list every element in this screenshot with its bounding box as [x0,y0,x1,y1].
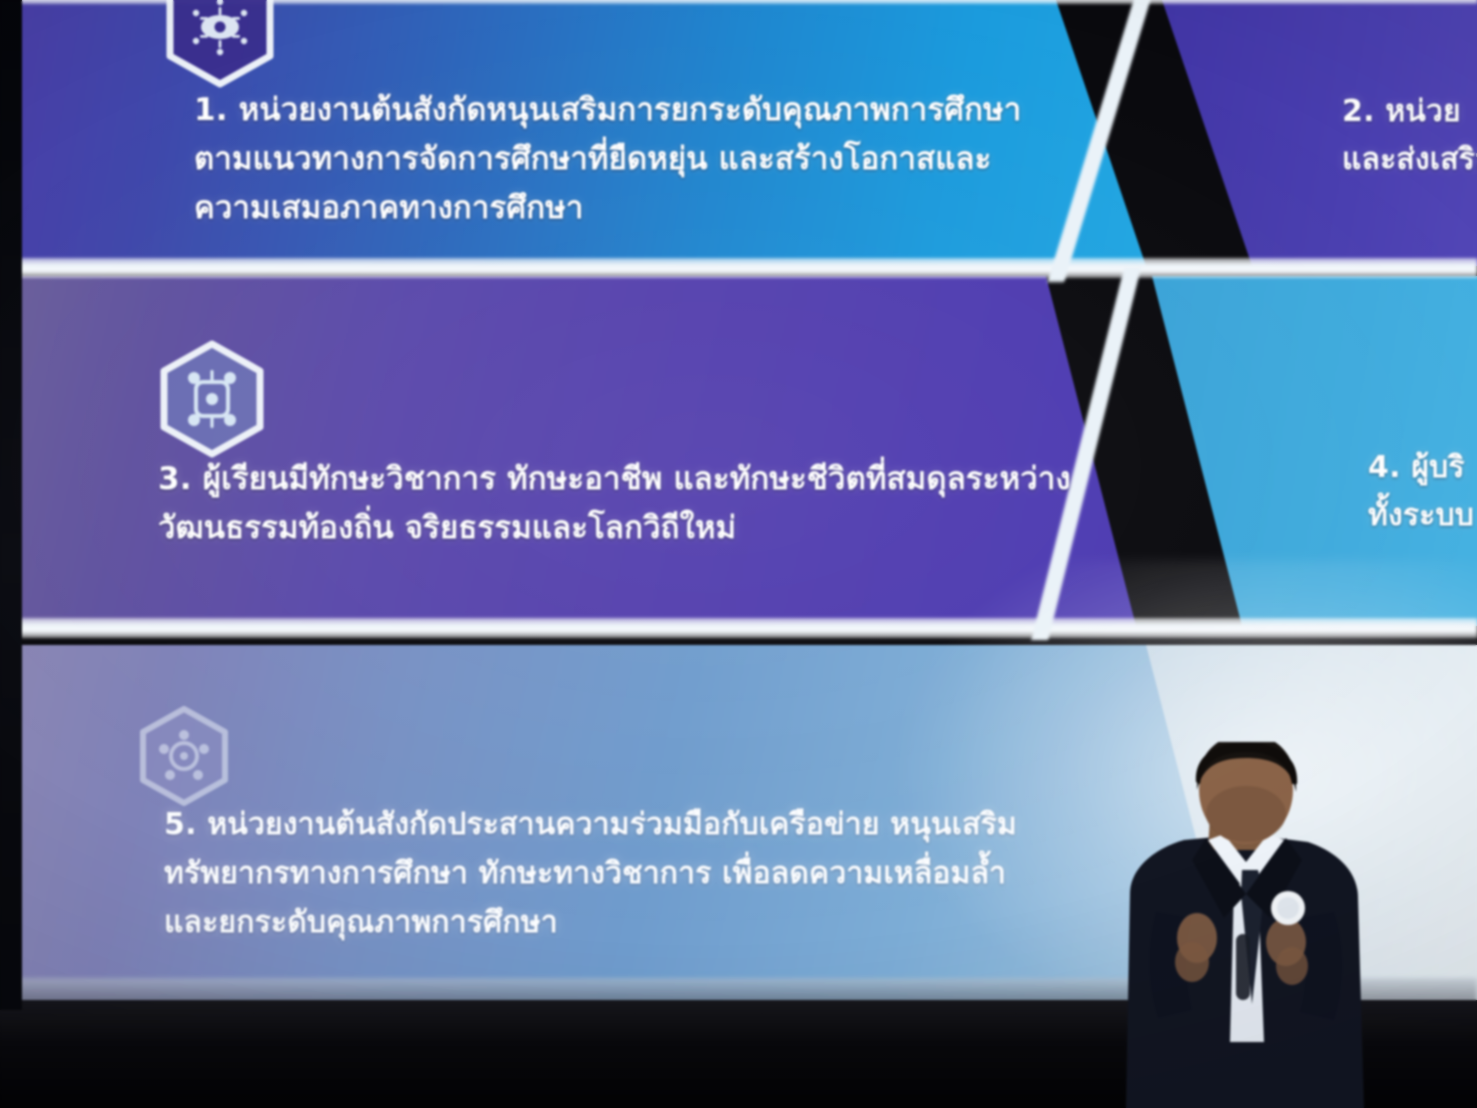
slide-item-1-line-1: 1. หน่วยงานต้นสังกัดหนุนเสริมการยกระดับค… [194,86,1021,135]
slide-item-5-line-1: 5. หน่วยงานต้นสังกัดประสานความร่วมมือกับ… [164,800,1017,849]
slide-item-1-line-2: ตามแนวทางการจัดการศึกษาที่ยืดหยุ่น และสร… [194,135,1021,184]
slide-item-1-line-3: ความเสมอภาคทางการศึกษา [194,184,1021,233]
slide-item-3-text: 3. ผู้เรียนมีทักษะวิชาการ ทักษะอาชีพ และ… [158,455,1071,553]
eye-hex-icon [162,0,278,88]
row-separator-1 [16,258,1477,278]
conference-stage: 1. หน่วยงานต้นสังกัดหนุนเสริมการยกระดับค… [0,0,1477,1108]
row-separator-2 [16,618,1477,638]
gear-network-hex-icon [136,705,232,807]
slide-item-5-line-3: และยกระดับคุณภาพการศึกษา [164,898,1017,947]
slide-item-3-line-1: 3. ผู้เรียนมีทักษะวิชาการ ทักษะอาชีพ และ… [158,455,1071,504]
slide-item-4-line-2: ทั้งระบบ บ [1368,492,1477,540]
slide-item-2-line-1: 2. หน่วย [1342,88,1477,136]
gear-network-hex-icon-wrap [136,705,232,807]
slide-item-4-line-1: 4. ผู้บริ [1368,444,1477,492]
slide-item-2-text: 2. หน่วย และส่งเสริม [1342,88,1477,184]
eye-hex-icon-wrap [162,0,278,88]
slide-item-4-text: 4. ผู้บริ ทั้งระบบ บ [1368,444,1477,540]
slide-item-2-line-2: และส่งเสริม [1342,136,1477,184]
slide-item-5-text: 5. หน่วยงานต้นสังกัดประสานความร่วมมือกับ… [164,800,1017,947]
slide-item-1-text: 1. หน่วยงานต้นสังกัดหนุนเสริมการยกระดับค… [194,86,1021,233]
presenter [1096,742,1396,1108]
network-hex-icon [156,340,268,458]
slide-item-5-line-2: ทรัพยากรทางการศึกษา ทักษะทางวิชาการ เพื่… [164,849,1017,898]
slide-item-3-line-2: วัฒนธรรมท้องถิ่น จริยธรรมและโลกวิถีใหม่ [158,504,1071,553]
network-hex-icon-wrap [156,340,268,458]
room-left-wall [0,0,22,1010]
presenter-figure [1096,742,1396,1108]
